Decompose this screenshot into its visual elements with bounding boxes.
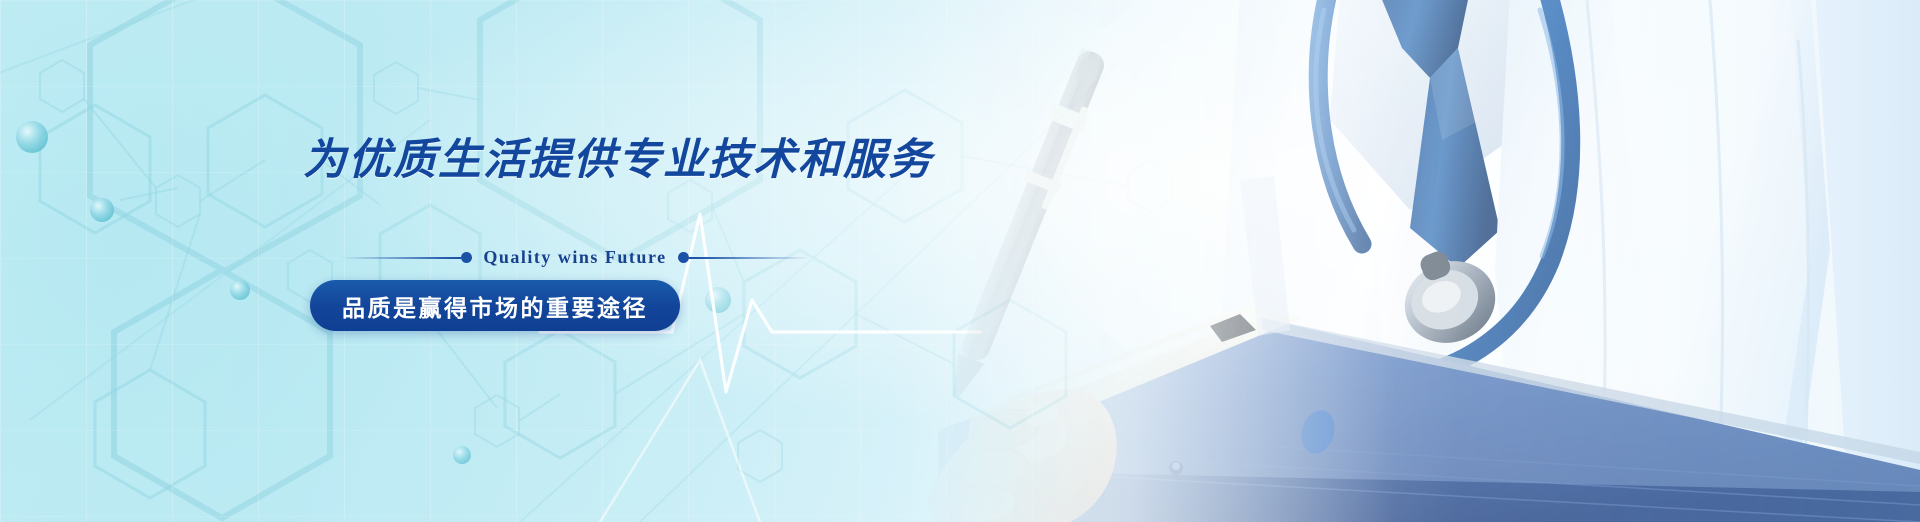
tagline-divider-row: Quality wins Future [340, 247, 810, 268]
divider-dot-left-icon [461, 252, 472, 263]
doctor-photo [910, 0, 1920, 522]
banner-headline: 为优质生活提供专业技术和服务 [303, 125, 933, 187]
banner-slogan-text: 品质是赢得市场的重要途径 [342, 289, 648, 323]
divider-line-left [340, 257, 461, 259]
banner-slogan-pill[interactable]: 品质是赢得市场的重要途径 [310, 280, 680, 331]
hero-banner: 为优质生活提供专业技术和服务 Quality wins Future 品质是赢得… [0, 0, 1920, 522]
banner-copy: 为优质生活提供专业技术和服务 Quality wins Future 品质是赢得… [0, 0, 920, 522]
divider-line-right [689, 257, 810, 259]
divider-dot-right-icon [678, 252, 689, 263]
banner-tagline-english: Quality wins Future [472, 247, 677, 268]
